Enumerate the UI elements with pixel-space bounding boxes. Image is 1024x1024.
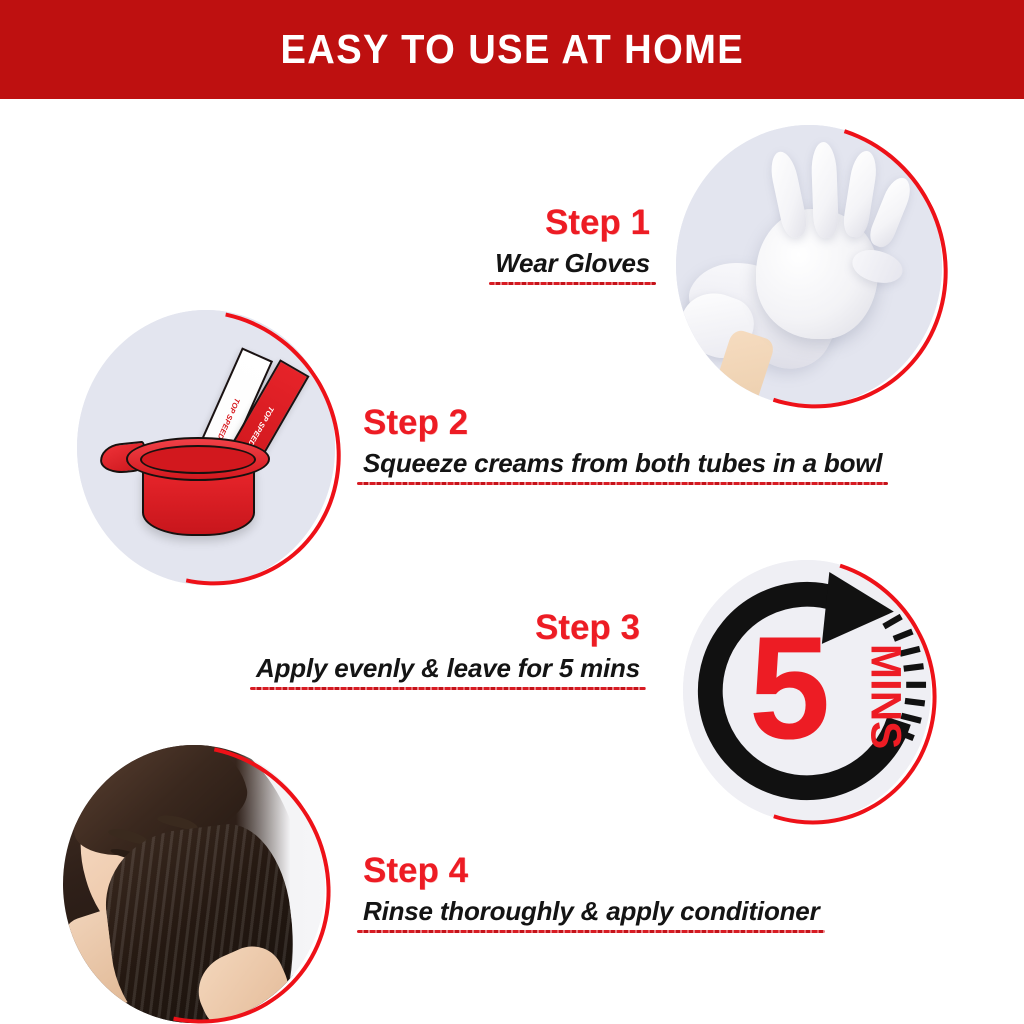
instruction-infographic: EASY TO USE AT HOME Step 1 Wear Gloves xyxy=(0,0,1024,1024)
step-1-text: Step 1 Wear Gloves xyxy=(360,205,650,278)
step-4-desc-wrap: Rinse thoroughly & apply conditioner xyxy=(363,896,819,927)
model-photo-illustration xyxy=(63,745,325,1023)
page-title: EASY TO USE AT HOME xyxy=(280,26,744,73)
step-3-label: Step 3 xyxy=(180,610,640,647)
bowl-rim-inner xyxy=(140,445,256,474)
step-2-label: Step 2 xyxy=(363,405,983,442)
step-4-image-model xyxy=(63,745,325,1023)
step-2-text: Step 2 Squeeze creams from both tubes in… xyxy=(363,405,983,478)
step-3-desc-wrap: Apply evenly & leave for 5 mins xyxy=(256,653,640,684)
step-4-description: Rinse thoroughly & apply conditioner xyxy=(363,896,819,927)
step-2-image-clip: TOP SPEED! TOP SPEED! xyxy=(77,310,335,585)
step-4-label: Step 4 xyxy=(363,853,923,890)
step-4-block: Step 4 Rinse thoroughly & apply conditio… xyxy=(0,735,1024,1024)
bowl-illustration: TOP SPEED! TOP SPEED! xyxy=(77,310,335,585)
step-3-description: Apply evenly & leave for 5 mins xyxy=(256,653,640,684)
step-1-desc-wrap: Wear Gloves xyxy=(495,248,650,279)
step-4-image-clip xyxy=(63,745,325,1023)
step-3-text: Step 3 Apply evenly & leave for 5 mins xyxy=(180,610,640,683)
step-2-underline xyxy=(357,482,888,485)
step-3-underline xyxy=(250,687,646,690)
step-2-description: Squeeze creams from both tubes in a bowl xyxy=(363,448,882,479)
step-2-desc-wrap: Squeeze creams from both tubes in a bowl xyxy=(363,448,882,479)
step-4-underline xyxy=(357,930,825,933)
header-banner: EASY TO USE AT HOME xyxy=(0,0,1024,99)
step-1-label: Step 1 xyxy=(360,205,650,242)
step-4-text: Step 4 Rinse thoroughly & apply conditio… xyxy=(363,853,923,926)
step-1-description: Wear Gloves xyxy=(495,248,650,279)
step-1-underline xyxy=(489,282,656,285)
step-2-image-bowl: TOP SPEED! TOP SPEED! xyxy=(77,310,335,585)
timer-unit: MINS xyxy=(862,644,909,749)
